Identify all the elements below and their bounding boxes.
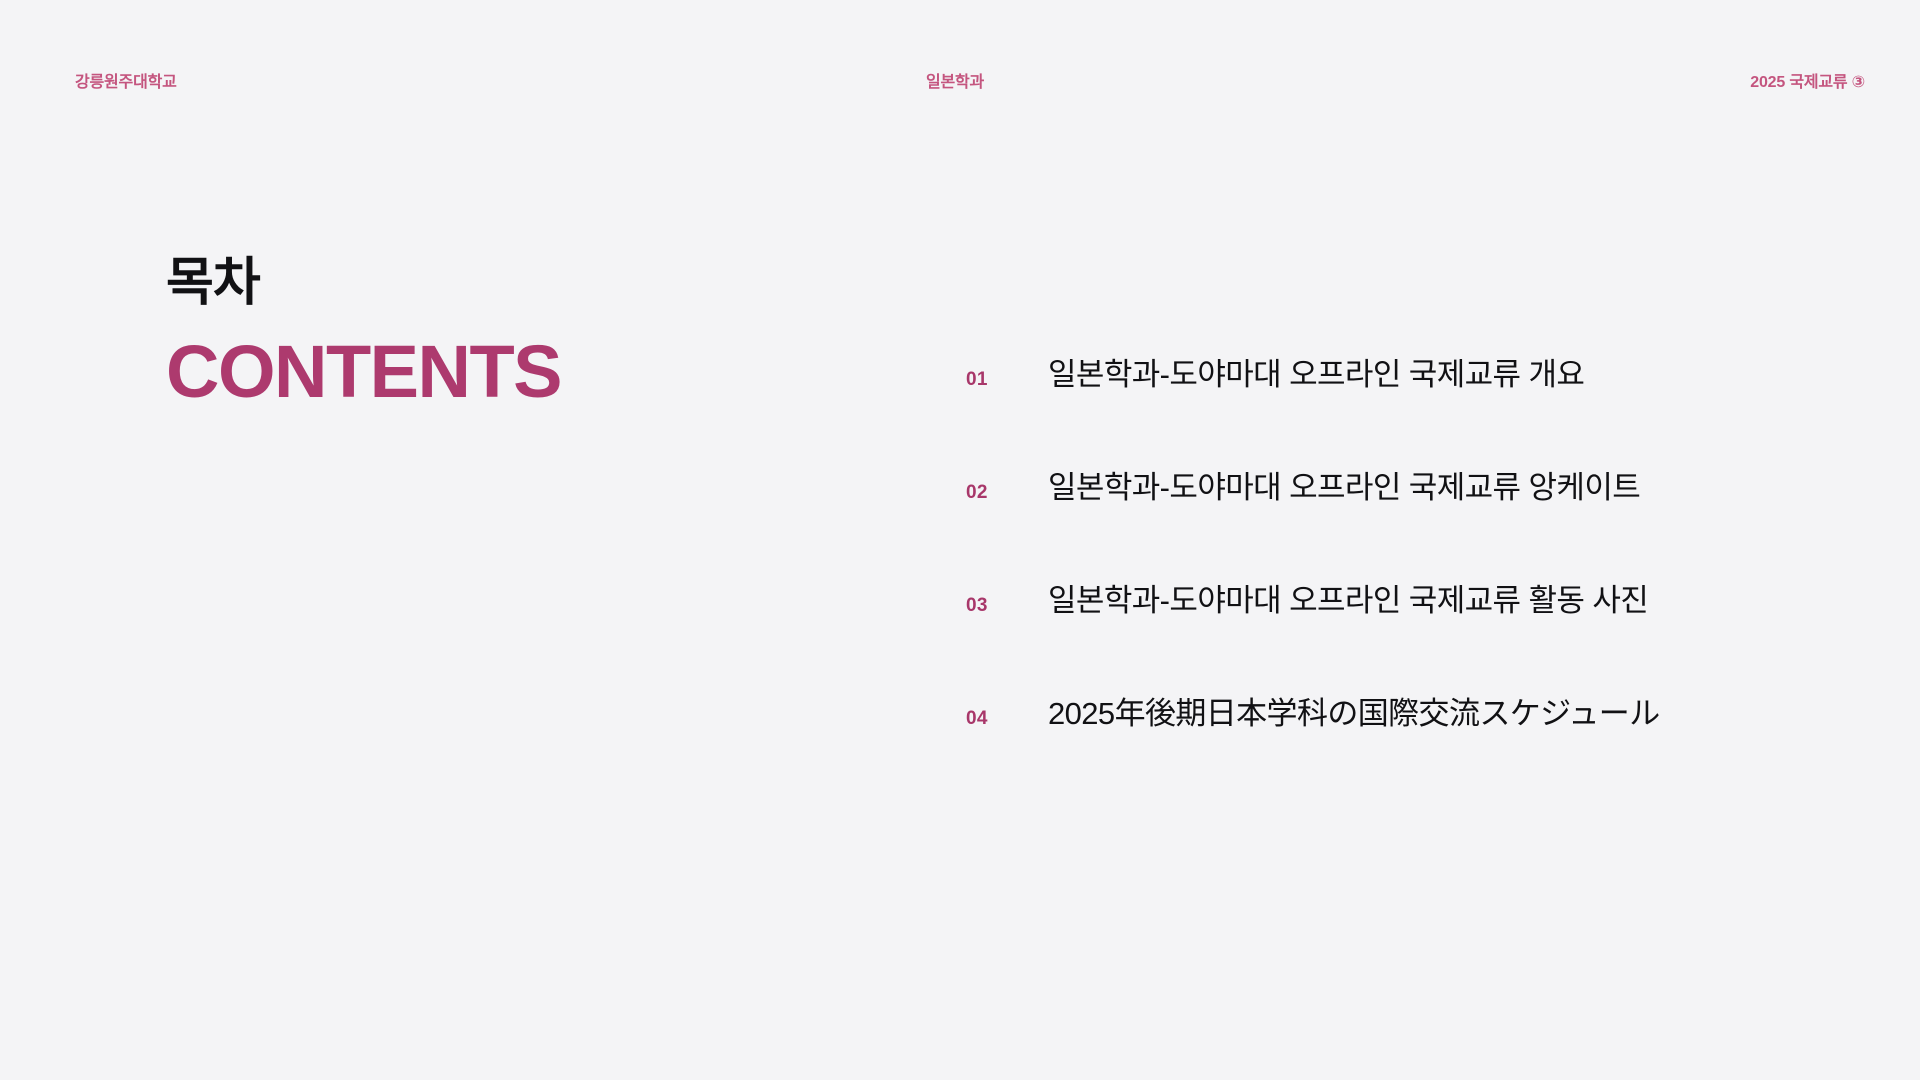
table-of-contents-list: 01 일본학과-도야마대 오프라인 국제교류 개요 02 일본학과-도야마대 오… (966, 358, 1866, 753)
toc-item-number: 01 (966, 363, 1048, 397)
toc-item-label: 2025年後期日本学科の国際交流スケジュール (1048, 697, 1866, 731)
toc-item-number: 02 (966, 476, 1048, 510)
toc-item[interactable]: 03 일본학과-도야마대 오프라인 국제교류 활동 사진 (966, 584, 1866, 640)
slide-header: 강릉원주대학교 일본학과 2025 국제교류 ③ (0, 72, 1920, 102)
toc-item[interactable]: 04 2025年後期日本学科の国際交流スケジュール (966, 697, 1866, 753)
toc-item-number: 04 (966, 702, 1048, 736)
toc-item[interactable]: 01 일본학과-도야마대 오프라인 국제교류 개요 (966, 358, 1866, 414)
contents-slide: 강릉원주대학교 일본학과 2025 국제교류 ③ 목차 CONTENTS 01 … (0, 0, 1920, 1080)
header-department-name: 일본학과 (926, 72, 984, 94)
toc-item-number: 03 (966, 589, 1048, 623)
page-title-korean: 목차 (166, 252, 786, 314)
header-program-label: 2025 국제교류 ③ (1750, 72, 1865, 94)
title-block: 목차 CONTENTS (166, 252, 786, 416)
header-university-name: 강릉원주대학교 (75, 72, 177, 94)
toc-item[interactable]: 02 일본학과-도야마대 오프라인 국제교류 앙케이트 (966, 471, 1866, 527)
toc-item-label: 일본학과-도야마대 오프라인 국제교류 앙케이트 (1048, 471, 1866, 505)
toc-item-label: 일본학과-도야마대 오프라인 국제교류 활동 사진 (1048, 584, 1866, 618)
page-title-english: CONTENTS (166, 328, 786, 416)
toc-item-label: 일본학과-도야마대 오프라인 국제교류 개요 (1048, 358, 1866, 392)
